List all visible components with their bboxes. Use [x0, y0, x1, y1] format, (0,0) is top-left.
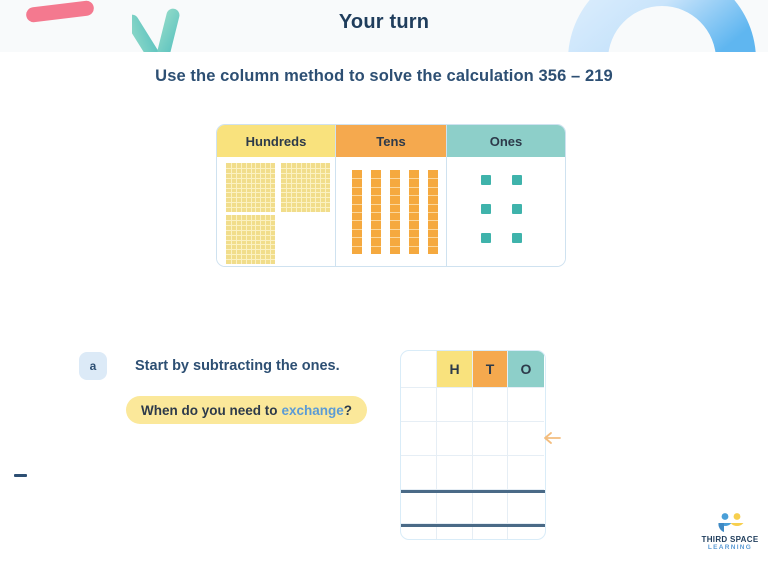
answer-cell-tens[interactable] — [473, 490, 508, 524]
question-prompt: Start by subtracting the ones. — [135, 358, 340, 374]
column-header-tens: Tens — [336, 125, 446, 157]
hundreds-blocks-area — [217, 157, 335, 267]
header-cell-blank — [401, 351, 437, 388]
logo-line-2: LEARNING — [697, 544, 763, 551]
column-method-row-answer[interactable] — [401, 490, 545, 524]
operator-cell — [401, 388, 437, 422]
column-method-row[interactable] — [401, 388, 545, 422]
instruction-text: Use the column method to solve the calcu… — [0, 67, 768, 86]
question-badge: a — [79, 352, 107, 380]
hundred-flat — [226, 163, 275, 212]
answer-cell-tens[interactable] — [473, 456, 508, 490]
column-method-row[interactable] — [401, 422, 545, 456]
ten-rod — [371, 170, 381, 254]
column-method-header-row: H T O — [401, 351, 545, 388]
place-value-column-hundreds: Hundreds — [217, 125, 335, 266]
exchange-hint-pill[interactable]: When do you need to exchange ? — [126, 396, 367, 424]
third-space-learning-mark-icon — [715, 512, 747, 534]
one-cube — [481, 204, 491, 214]
operator-cell-minus — [401, 456, 437, 490]
one-cube — [512, 233, 522, 243]
hundred-flat — [226, 215, 275, 264]
place-value-table: Hundreds Tens Ones — [216, 124, 566, 267]
answer-cell-hundreds[interactable] — [437, 456, 473, 490]
header-cell-ones: O — [508, 351, 544, 388]
answer-cell-tens[interactable] — [473, 388, 508, 422]
one-cube — [481, 233, 491, 243]
answer-cell-ones[interactable] — [508, 490, 544, 524]
ten-rod — [390, 170, 400, 254]
ten-rod — [409, 170, 419, 254]
operator-cell — [401, 422, 437, 456]
header-cell-hundreds: H — [437, 351, 473, 388]
hundred-flat — [281, 163, 330, 212]
answer-cell-hundreds[interactable] — [437, 422, 473, 456]
place-value-column-tens: Tens — [335, 125, 447, 266]
slide-canvas: Your turn Use the column method to solve… — [0, 0, 768, 576]
column-method-row-subtract[interactable] — [401, 456, 545, 490]
column-header-ones: Ones — [447, 125, 565, 157]
answer-cell-tens[interactable] — [473, 422, 508, 456]
answer-cell-ones[interactable] — [508, 456, 544, 490]
minus-operator-sign — [14, 474, 27, 477]
hint-suffix-text: ? — [344, 403, 352, 418]
header-bar: Your turn — [0, 0, 768, 52]
header-cell-tens: T — [473, 351, 508, 388]
arrow-left-icon — [543, 431, 561, 445]
column-method-grid[interactable]: H T O — [400, 350, 546, 540]
place-value-column-ones: Ones — [447, 125, 565, 266]
answer-cell-ones[interactable] — [508, 388, 544, 422]
page-title: Your turn — [0, 11, 768, 34]
ten-rod — [352, 170, 362, 254]
answer-cell-hundreds[interactable] — [437, 388, 473, 422]
hint-prefix-text: When do you need to — [141, 403, 278, 418]
logo-line-1: THIRD SPACE — [697, 535, 763, 544]
one-cube — [512, 204, 522, 214]
answer-cell-hundreds[interactable] — [437, 490, 473, 524]
answer-rule-top — [401, 490, 546, 493]
column-header-hundreds: Hundreds — [217, 125, 335, 157]
ones-blocks-area — [447, 157, 565, 267]
operator-cell — [401, 490, 437, 524]
answer-rule-bottom — [401, 524, 546, 527]
one-cube — [512, 175, 522, 185]
tens-blocks-area — [336, 157, 446, 267]
ten-rod — [428, 170, 438, 254]
exchange-link[interactable]: exchange — [282, 403, 344, 418]
one-cube — [481, 175, 491, 185]
brand-logo: THIRD SPACE LEARNING — [697, 512, 763, 558]
answer-cell-ones[interactable] — [508, 422, 544, 456]
